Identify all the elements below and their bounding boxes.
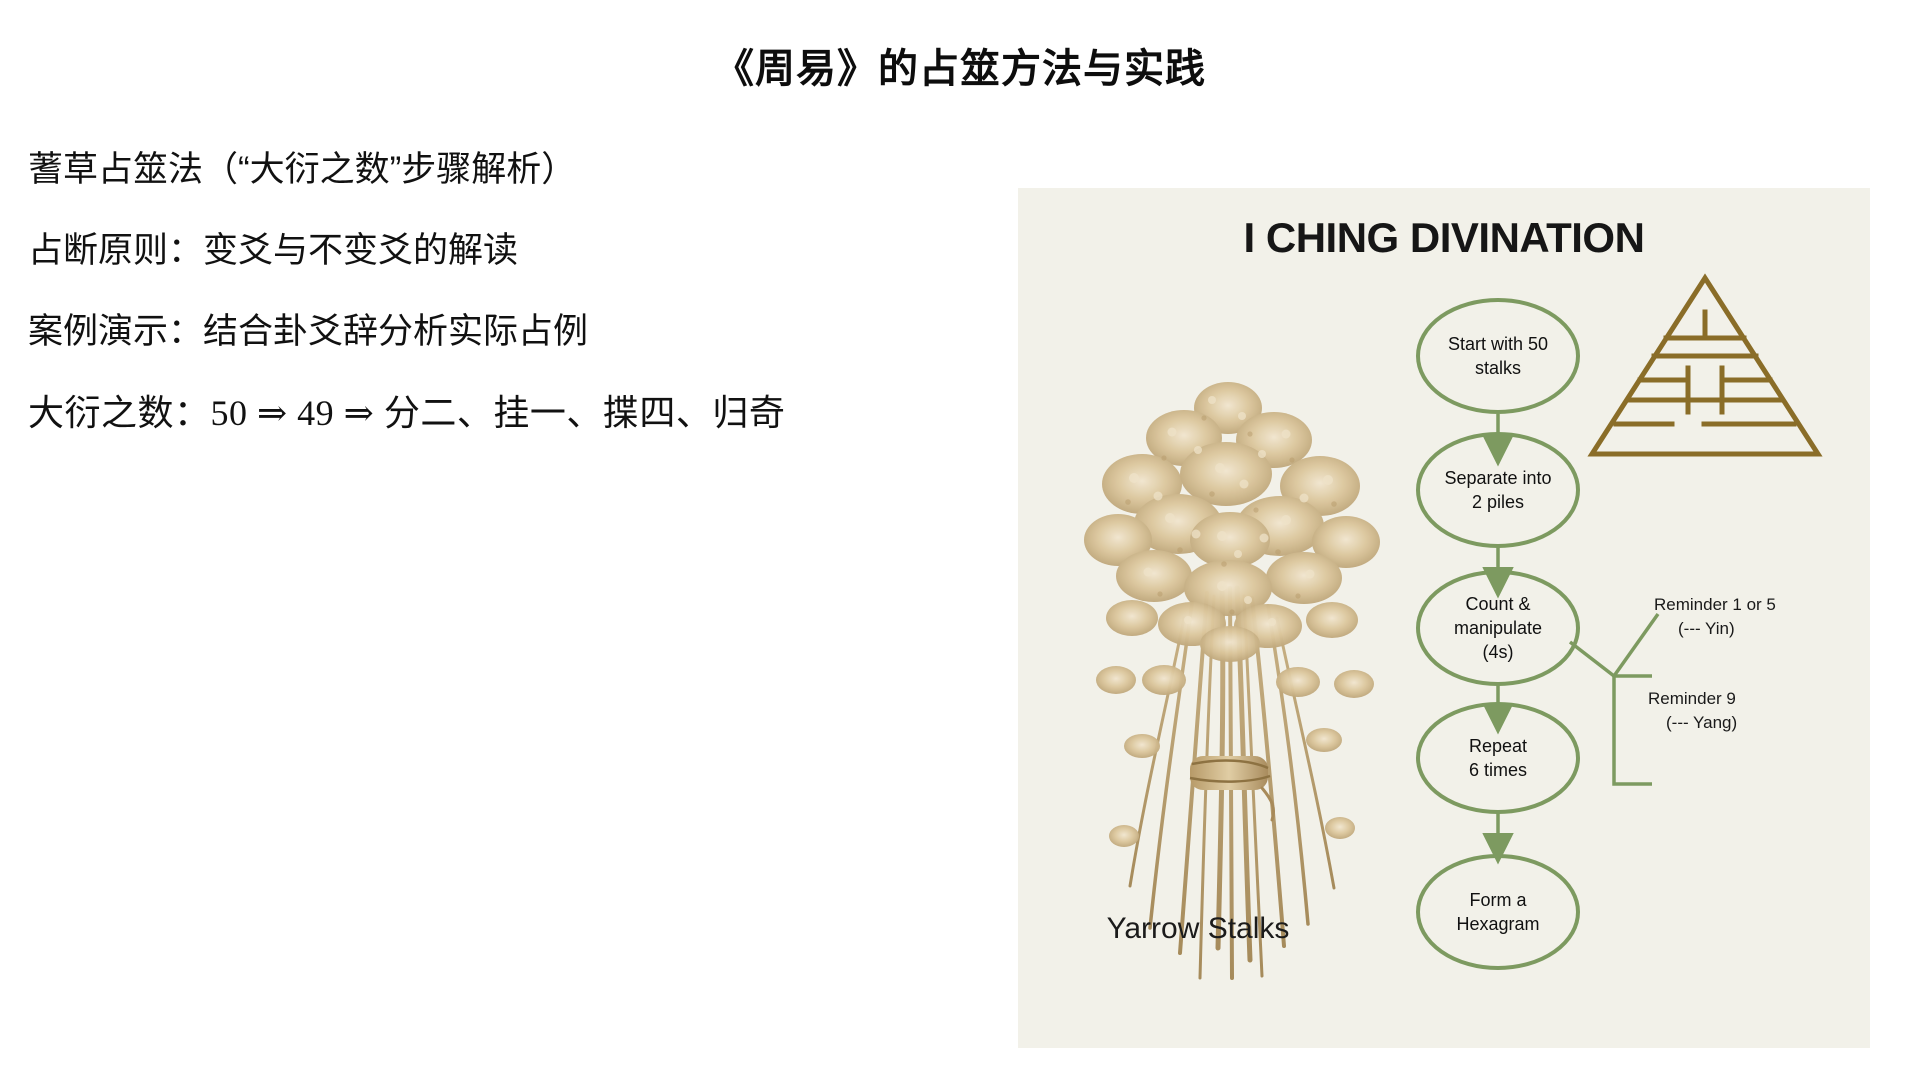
flow-node-4-line-1: Repeat — [1469, 736, 1527, 756]
flow-node-5: Form a Hexagram — [1418, 856, 1578, 968]
photo-caption: Yarrow Stalks — [1018, 912, 1378, 946]
flow-node-3-line-3: (4s) — [1483, 642, 1514, 662]
flow-node-3-line-2: manipulate — [1454, 618, 1542, 638]
bullet-item-2: 占断原则：变爻与不变爻的解读 — [28, 233, 808, 268]
page-title: 《周易》的占筮方法与实践 — [0, 36, 1920, 94]
flow-node-1-line-2: stalks — [1475, 358, 1521, 378]
flow-node-5-line-2: Hexagram — [1456, 914, 1539, 934]
flow-node-1: Start with 50 stalks — [1418, 300, 1578, 412]
flow-annotation-yang-line-2: (--- Yang) — [1666, 713, 1737, 732]
divination-flowchart: Start with 50 stalks Separate into 2 pil… — [1348, 284, 1868, 1044]
flow-annotation-yin-line-2: (--- Yin) — [1678, 619, 1735, 638]
flow-annotation-yang: Reminder 9 (--- Yang) — [1648, 689, 1737, 732]
illustration-panel: I CHING DIVINATION — [1018, 188, 1870, 1048]
flow-node-1-line-1: Start with 50 — [1448, 334, 1548, 354]
flow-node-3: Count & manipulate (4s) — [1418, 572, 1578, 684]
panel-title: I CHING DIVINATION — [1018, 214, 1870, 262]
bullet-list: 蓍草占筮法（“大衍之数”步骤解析） 占断原则：变爻与不变爻的解读 案例演示：结合… — [28, 152, 808, 477]
bullet-item-1: 蓍草占筮法（“大衍之数”步骤解析） — [28, 152, 808, 187]
flow-node-4-line-2: 6 times — [1469, 760, 1527, 780]
flow-annotation-yin-line-1: Reminder 1 or 5 — [1654, 595, 1776, 614]
flow-node-3-line-1: Count & — [1465, 594, 1530, 614]
bullet-item-3: 案例演示：结合卦爻辞分析实际占例 — [28, 314, 808, 349]
flow-node-2-line-2: 2 piles — [1472, 492, 1524, 512]
flow-annotation-yang-line-1: Reminder 9 — [1648, 689, 1736, 708]
flow-node-5-line-1: Form a — [1469, 890, 1527, 910]
flow-annotation-yin: Reminder 1 or 5 (--- Yin) — [1654, 595, 1776, 638]
flow-node-2-line-1: Separate into — [1444, 468, 1551, 488]
bullet-item-4: 大衍之数：50 ⇒ 49 ⇒ 分二、挂一、揲四、归奇 — [28, 395, 808, 431]
slide-root: 《周易》的占筮方法与实践 蓍草占筮法（“大衍之数”步骤解析） 占断原则：变爻与不… — [0, 0, 1920, 1080]
